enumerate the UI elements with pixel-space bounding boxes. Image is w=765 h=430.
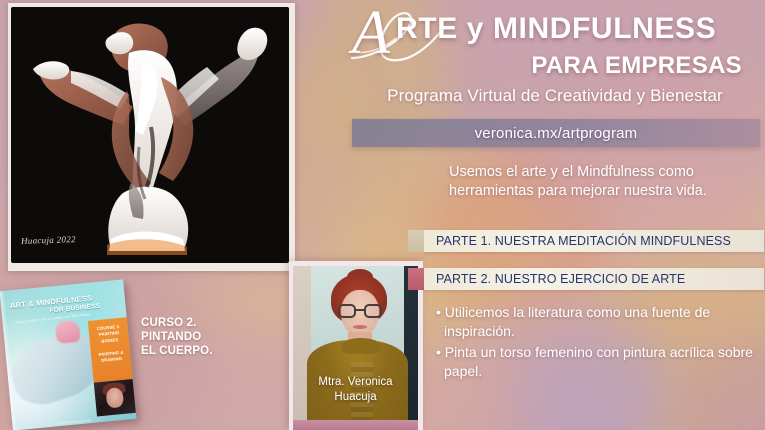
instructor-portrait-frame: Mtra. Veronica Huacuja <box>289 261 423 430</box>
course-label-line-2: PINTANDO <box>141 330 213 344</box>
instructor-portrait: Mtra. Veronica Huacuja <box>293 266 418 430</box>
section-bar-parte-1: PARTE 1. NUESTRA MEDITACIÓN MINDFULNESS <box>424 230 764 252</box>
course-label: CURSO 2. PINTANDO EL CUERPO. <box>141 316 213 358</box>
url-text: veronica.mx/artprogram <box>475 125 638 142</box>
title-line-1: A RTE y MINDFULNESS <box>352 6 758 54</box>
section-bar-1-label: PARTE 1. NUESTRA MEDITACIÓN MINDFULNESS <box>436 234 731 248</box>
title-line-1-rest: RTE y MINDFULNESS <box>396 12 716 46</box>
course-label-line-1: CURSO 2. <box>141 316 213 330</box>
brochure-instructor-photo <box>94 379 137 417</box>
brochure-mockup: ART & MINDFULNESS FOR BUSINESS Virtual P… <box>0 279 136 430</box>
artwork-painting: Huacuja 2022 <box>8 3 295 271</box>
artwork-canvas: Huacuja 2022 <box>11 7 289 263</box>
slide-canvas: Huacuja 2022 ART & MINDFULNESS FOR BUSIN… <box>0 0 765 430</box>
artwork-figure-illustration <box>11 7 289 263</box>
subtitle: Programa Virtual de Creatividad y Bienes… <box>352 86 758 106</box>
instructor-name-line-1: Mtra. Veronica <box>293 375 418 389</box>
instructor-name-line-2: Huacuja <box>293 390 418 404</box>
url-bar[interactable]: veronica.mx/artprogram <box>352 119 760 147</box>
brochure-course-badge: COURSE 2. PAINTING BODIES PAINTING & DRA… <box>88 317 134 383</box>
section-bar-parte-2: PARTE 2. NUESTRO EJERCICIO DE ARTE <box>424 268 764 290</box>
eyeglasses-icon <box>338 304 382 318</box>
list-item: Pinta un torso femenino con pintura acrí… <box>436 343 756 382</box>
lead-paragraph: Usemos el arte y el Mindfulness como her… <box>449 163 749 202</box>
artwork-signature: Huacuja 2022 <box>21 234 76 246</box>
section-bar-2-tab <box>408 268 424 290</box>
instructor-name: Mtra. Veronica Huacuja <box>293 375 418 404</box>
title-script-letter: A <box>352 2 390 64</box>
section-bar-2-label: PARTE 2. NUESTRO EJERCICIO DE ARTE <box>436 272 685 286</box>
list-item: Utilicemos la literatura como una fuente… <box>436 303 756 342</box>
course-label-line-3: EL CUERPO. <box>141 344 213 358</box>
title-block: A RTE y MINDFULNESS PARA EMPRESAS Progra… <box>352 6 758 106</box>
section-bar-1-tab <box>408 230 424 252</box>
bullet-list: Utilicemos la literatura como una fuente… <box>436 303 756 382</box>
